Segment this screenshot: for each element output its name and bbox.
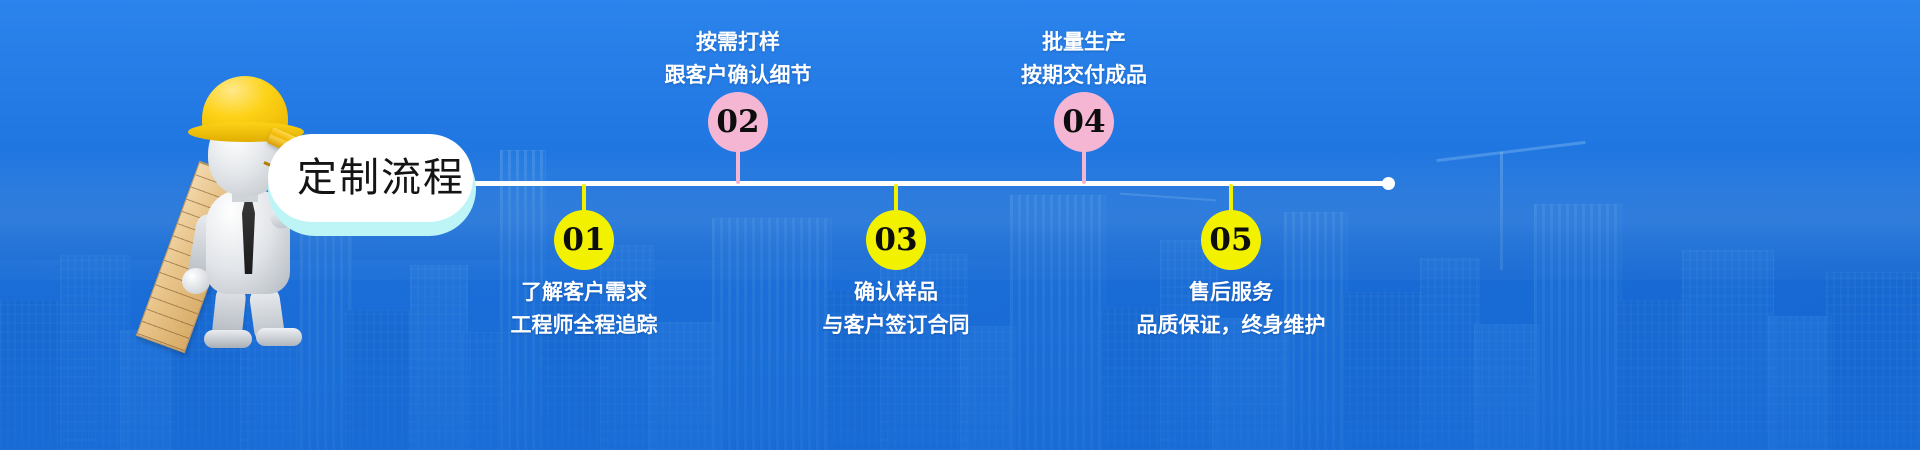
step-05-number: 05 [1209,225,1252,256]
figure-hand-back [182,268,210,294]
step-05-caption: 售后服务 品质保证，终身维护 [1091,276,1371,342]
figure-shoe-right [256,328,302,346]
step-03-caption-line-2: 与客户签订合同 [766,309,1026,342]
step-02-caption-line-1: 按需打样 [608,26,868,59]
step-02-caption-line-2: 跟客户确认细节 [608,59,868,92]
step-04-number: 04 [1062,107,1105,138]
step-04-stem [1082,150,1086,184]
step-01-bubble[interactable]: 01 [554,210,614,270]
step-05-caption-line-2: 品质保证，终身维护 [1091,309,1371,342]
process-title-badge: 定制流程 [268,142,476,236]
step-01-number: 01 [562,225,605,256]
step-04-caption: 批量生产 按期交付成品 [954,26,1214,92]
step-03-caption: 确认样品 与客户签订合同 [766,276,1026,342]
figure-shoe-left [204,330,252,348]
step-03-caption-line-1: 确认样品 [766,276,1026,309]
step-05-bubble[interactable]: 05 [1201,210,1261,270]
timeline-axis [470,181,1390,186]
step-02-bubble[interactable]: 02 [708,92,768,152]
step-02-caption: 按需打样 跟客户确认细节 [608,26,868,92]
step-01-caption: 了解客户需求 工程师全程追踪 [454,276,714,342]
step-04-caption-line-1: 批量生产 [954,26,1214,59]
step-04-caption-line-2: 按期交付成品 [954,59,1214,92]
timeline-end-dot [1382,177,1395,190]
step-02-stem [736,150,740,184]
step-01-caption-line-2: 工程师全程追踪 [454,309,714,342]
step-03-number: 03 [874,225,917,256]
step-04-bubble[interactable]: 04 [1054,92,1114,152]
step-01-caption-line-1: 了解客户需求 [454,276,714,309]
page-title: 定制流程 [268,134,473,222]
custom-process-banner: 定制流程 01 了解客户需求 工程师全程追踪 02 按需打样 跟客户确认细节 0… [0,0,1920,450]
step-03-bubble[interactable]: 03 [866,210,926,270]
step-05-caption-line-1: 售后服务 [1091,276,1371,309]
step-02-number: 02 [716,107,759,138]
